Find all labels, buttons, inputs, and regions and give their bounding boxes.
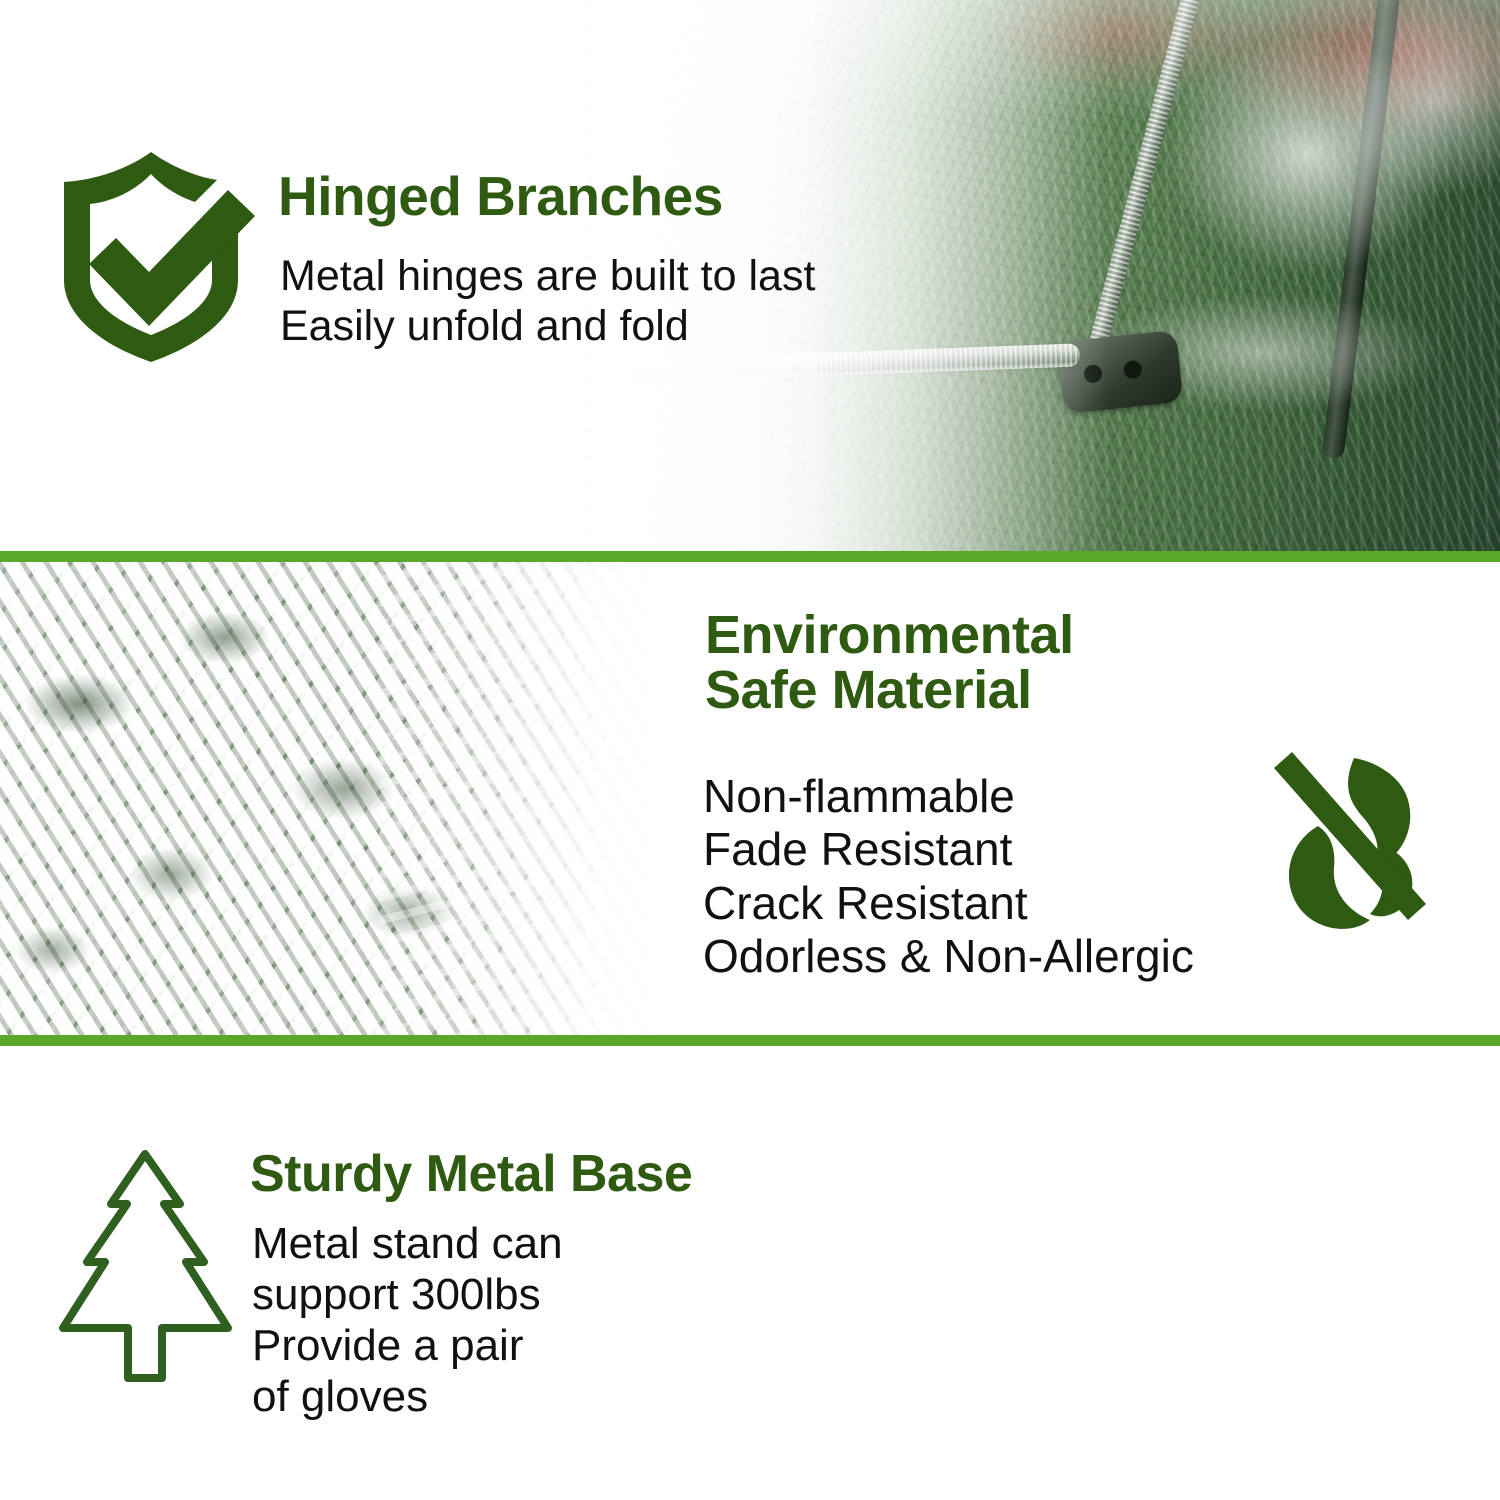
hinged-branches-description: Metal hinges are built to last Easily un… — [280, 252, 815, 352]
photo-right-fade — [410, 562, 660, 1035]
material-title-line-1: Environmental — [705, 608, 1074, 663]
environmental-safe-material-title: Environmental Safe Material — [705, 608, 1074, 718]
material-title-line-2: Safe Material — [705, 663, 1074, 718]
feature-panel-hinged-branches: Hinged Branches Metal hinges are built t… — [0, 0, 1500, 551]
material-line-4: Odorless & Non-Allergic — [703, 930, 1194, 983]
hinged-branches-title: Hinged Branches — [278, 168, 723, 224]
base-line-3: Provide a pair — [252, 1320, 563, 1371]
hinged-line-1: Metal hinges are built to last — [280, 252, 815, 302]
christmas-tree-outline-icon — [58, 1146, 233, 1396]
sturdy-metal-base-description: Metal stand can support 300lbs Provide a… — [252, 1218, 563, 1422]
material-line-3: Crack Resistant — [703, 877, 1194, 930]
sturdy-metal-base-title: Sturdy Metal Base — [250, 1148, 692, 1201]
product-feature-infographic: Hinged Branches Metal hinges are built t… — [0, 0, 1500, 1500]
material-line-1: Non-flammable — [703, 770, 1194, 823]
base-line-4: of gloves — [252, 1371, 563, 1422]
base-line-1: Metal stand can — [252, 1218, 563, 1269]
section-divider-top — [0, 551, 1500, 562]
environmental-safe-material-description: Non-flammable Fade Resistant Crack Resis… — [703, 770, 1194, 983]
shield-check-icon — [52, 152, 262, 367]
base-line-2: support 300lbs — [252, 1269, 563, 1320]
no-flame-icon — [1258, 740, 1438, 945]
material-line-2: Fade Resistant — [703, 823, 1194, 876]
flocked-tree-photo — [0, 562, 660, 1035]
section-divider-bottom — [0, 1035, 1500, 1046]
hinged-line-2: Easily unfold and fold — [280, 302, 815, 352]
